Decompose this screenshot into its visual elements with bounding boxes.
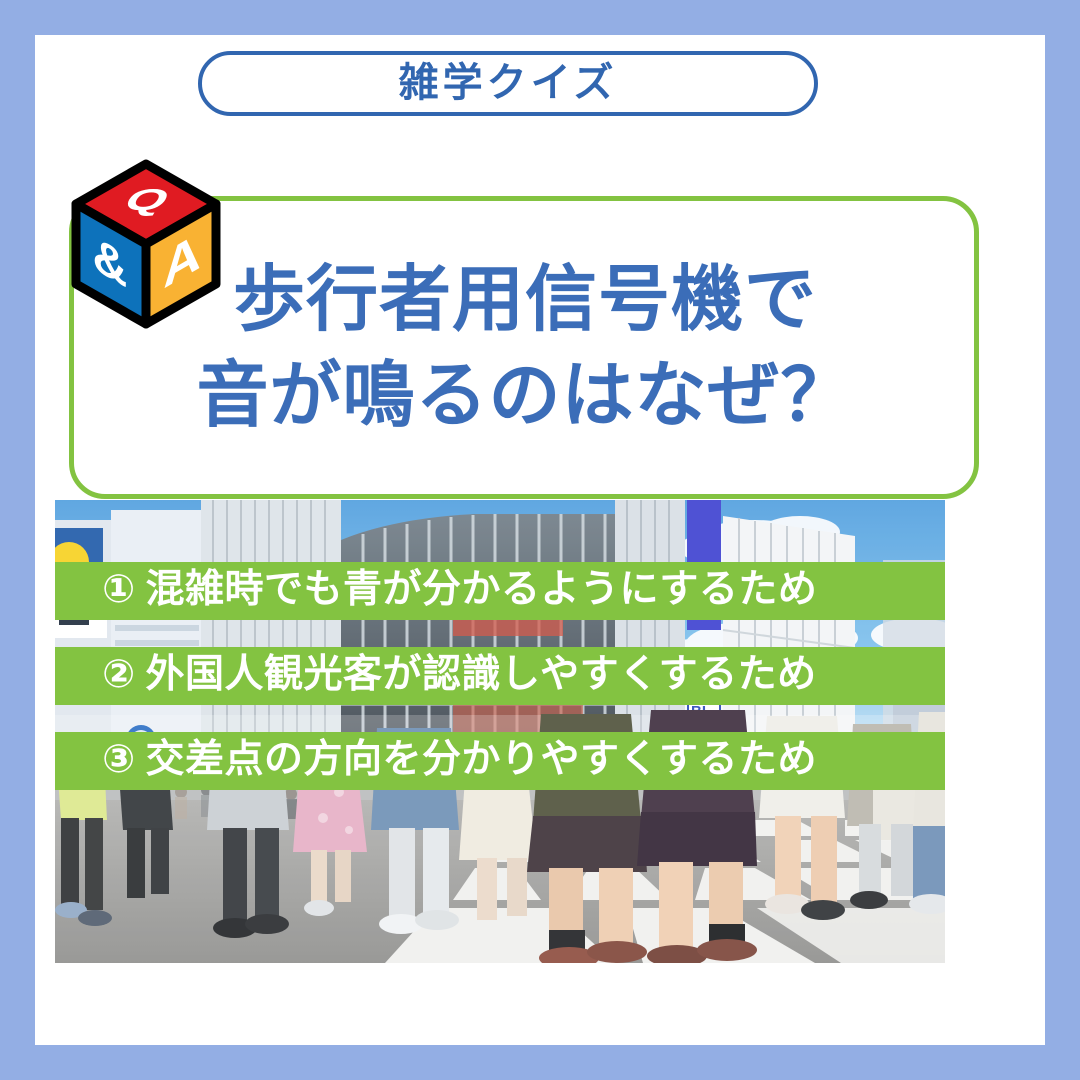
qa-cube-logo: Q & A [70,158,222,330]
answer-list: ①混雑時でも青が分かるようにするため ②外国人観光客が認識しやすくするため ③交… [55,562,945,790]
answer-option-3[interactable]: ③交差点の方向を分かりやすくするため [55,732,945,790]
answer-option-2-label: 外国人観光客が認識しやすくするため [146,653,817,696]
answer-option-2-content: ②外国人観光客が認識しやすくするため [102,655,817,694]
answer-option-2[interactable]: ②外国人観光客が認識しやすくするため [55,647,945,705]
answer-option-1-content: ①混雑時でも青が分かるようにするため [102,570,817,609]
answer-option-1-number: ① [102,568,136,611]
category-badge: 雑学クイズ [198,51,818,116]
answer-option-3-label: 交差点の方向を分かりやすくするため [146,738,818,781]
poster-root: PARCO [0,0,1080,1080]
category-badge-label: 雑学クイズ [399,63,618,103]
answer-option-1-label: 混雑時でも青が分かるようにするため [146,568,818,611]
answer-option-3-number: ③ [102,738,136,781]
answer-option-1[interactable]: ①混雑時でも青が分かるようにするため [55,562,945,620]
answer-option-2-number: ② [102,653,136,696]
answer-option-3-content: ③交差点の方向を分かりやすくするため [102,740,817,779]
